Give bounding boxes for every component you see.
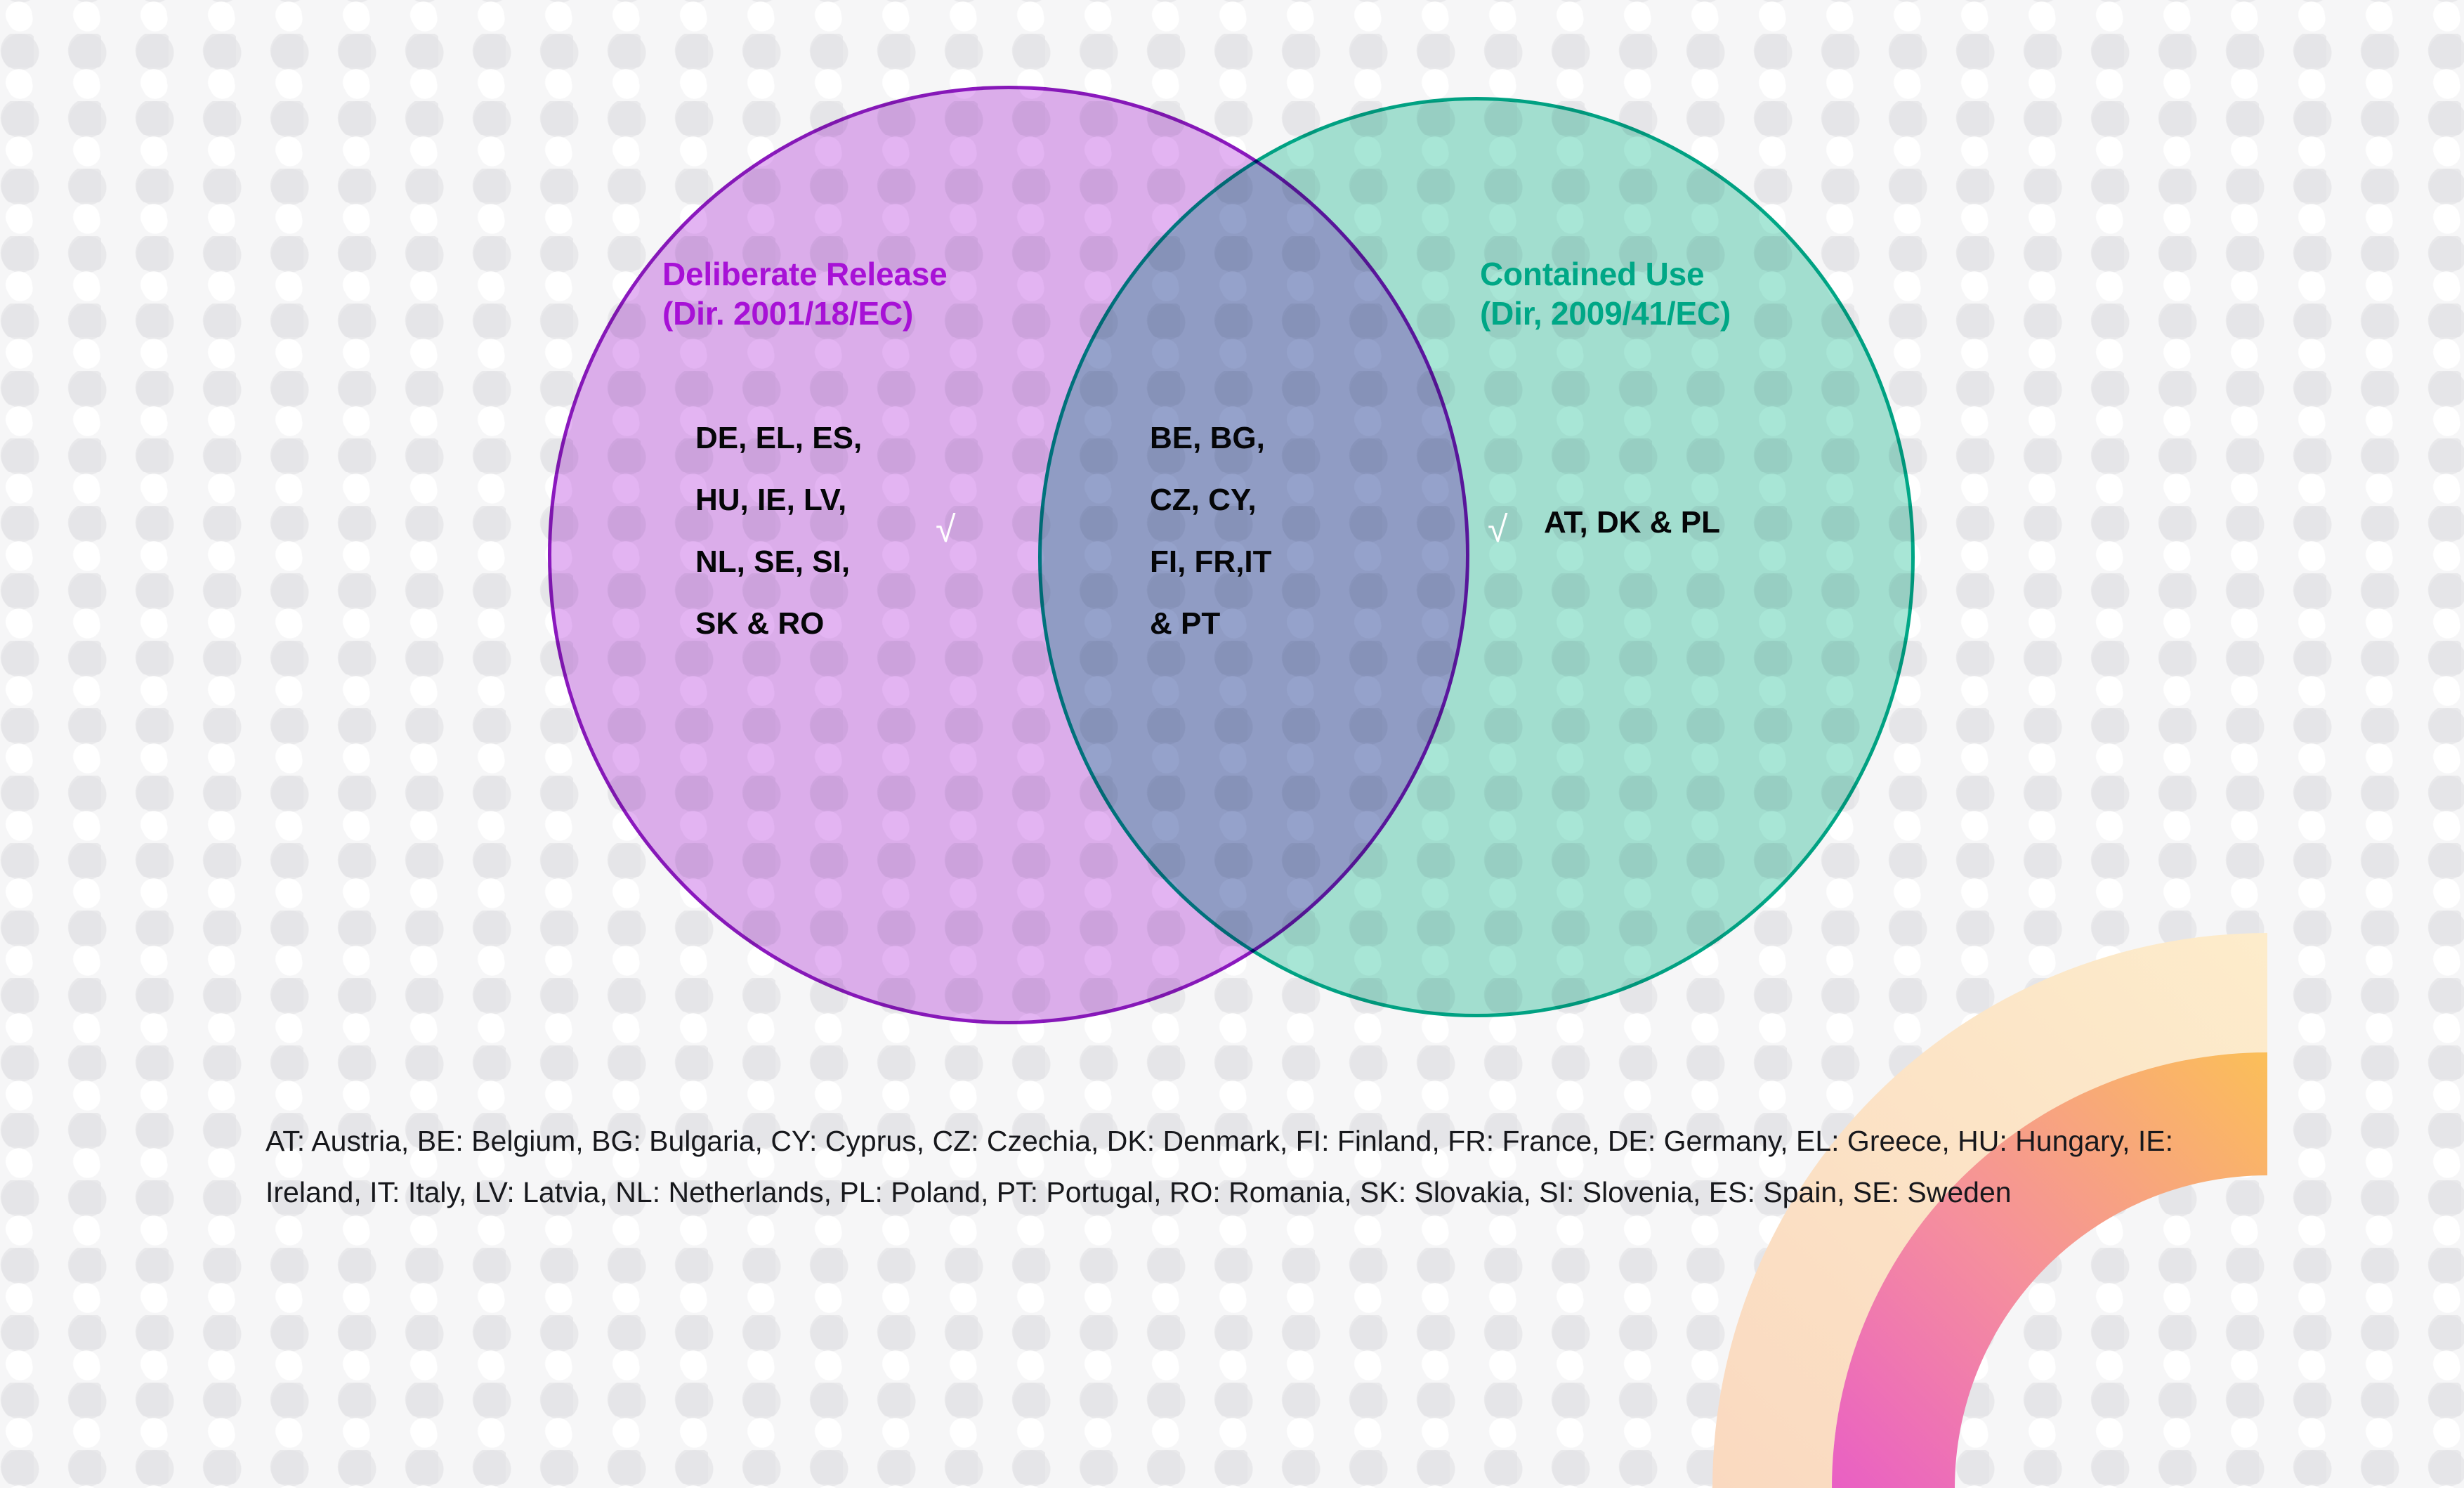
venn-left-members: DE, EL, ES, HU, IE, LV, NL, SE, SI, SK &…	[695, 407, 862, 655]
country-code-legend: AT: Austria, BE: Belgium, BG: Bulgaria, …	[266, 1116, 2204, 1218]
venn-diagram: Deliberate Release (Dir. 2001/18/EC) Con…	[0, 0, 2464, 1096]
venn-left-title: Deliberate Release (Dir. 2001/18/EC)	[662, 254, 948, 333]
venn-labels-layer: Deliberate Release (Dir. 2001/18/EC) Con…	[0, 0, 2464, 1096]
venn-right-members: AT, DK & PL	[1544, 504, 1720, 542]
check-icon-left: √	[936, 511, 956, 548]
venn-right-title: Contained Use (Dir, 2009/41/EC)	[1480, 254, 1731, 333]
check-icon-right: √	[1488, 511, 1508, 548]
venn-intersection-members: BE, BG, CZ, CY, FI, FR,IT & PT	[1150, 407, 1272, 655]
